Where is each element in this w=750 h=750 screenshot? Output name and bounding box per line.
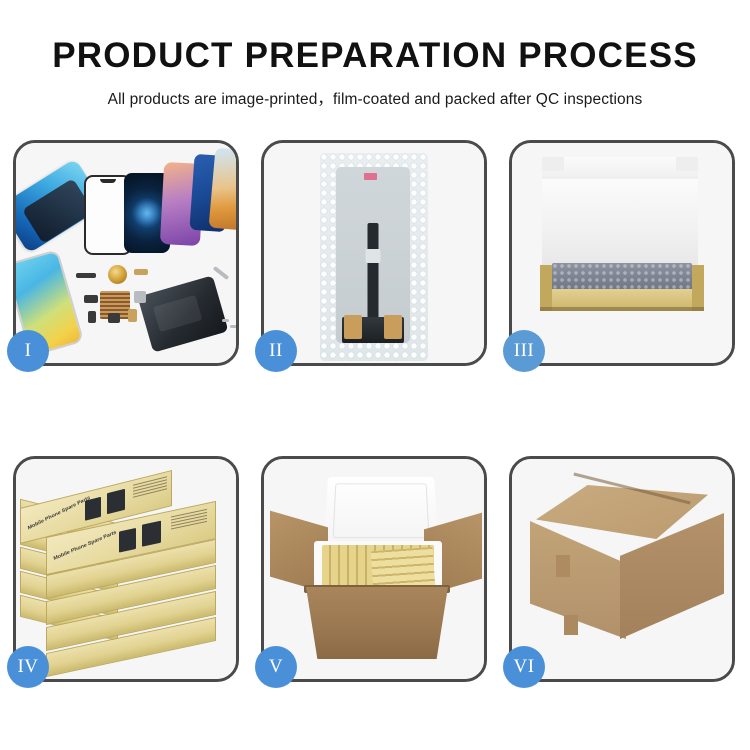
box-spec-lines-back bbox=[133, 476, 167, 499]
step-badge-6: VI bbox=[503, 646, 545, 688]
step-badge-5: V bbox=[255, 646, 297, 688]
box-spec-lines-front bbox=[171, 509, 207, 532]
lcd-connector-right bbox=[384, 315, 402, 339]
part-bracket bbox=[84, 295, 98, 303]
part-vibrator bbox=[108, 313, 120, 323]
part-screw-2 bbox=[230, 325, 236, 328]
carton-tape-mark-lower bbox=[564, 615, 578, 635]
box-artwork-3 bbox=[119, 528, 136, 553]
process-step-6[interactable]: VI bbox=[509, 456, 735, 682]
process-step-2[interactable]: II bbox=[261, 140, 487, 366]
bubble-wrap-bag bbox=[320, 153, 428, 361]
lcd-connector-left bbox=[344, 315, 362, 339]
sealed-carton-illustration bbox=[512, 459, 732, 679]
bubble-wrapped-screen-illustration bbox=[264, 143, 484, 363]
panel-4-image: Mobile Phone Spare Parts Mobile Phone Sp… bbox=[16, 459, 236, 679]
lid-notch-left bbox=[542, 157, 564, 171]
process-step-5[interactable]: V bbox=[261, 456, 487, 682]
header: PRODUCT PREPARATION PROCESS All products… bbox=[0, 0, 750, 109]
page-root: PRODUCT PREPARATION PROCESS All products… bbox=[0, 0, 750, 750]
phones-and-parts-illustration bbox=[16, 143, 236, 363]
step-badge-4: IV bbox=[7, 646, 49, 688]
part-button bbox=[88, 311, 96, 323]
page-title: PRODUCT PREPARATION PROCESS bbox=[0, 38, 750, 73]
carton-tape-mark-upper bbox=[556, 555, 570, 577]
white-lid-top-edge bbox=[542, 157, 698, 179]
panel-6-image bbox=[512, 459, 732, 679]
lid-notch-right bbox=[676, 157, 698, 171]
panel-5-image bbox=[264, 459, 484, 679]
panel-1-image bbox=[16, 143, 236, 363]
process-step-1[interactable]: I bbox=[13, 140, 239, 366]
box-artwork-2 bbox=[107, 489, 125, 514]
qc-sticker bbox=[364, 173, 377, 180]
page-subtitle: All products are image-printed，film-coat… bbox=[0, 87, 750, 109]
kraft-tray-left-side bbox=[540, 265, 552, 311]
lcd-flex-cable bbox=[368, 223, 379, 321]
step-badge-1: I bbox=[7, 330, 49, 372]
open-carton-illustration bbox=[264, 459, 484, 679]
kraft-tray-right-side bbox=[692, 265, 704, 311]
part-flex-cable bbox=[134, 269, 148, 275]
kraft-tray-bottom-shadow bbox=[540, 307, 704, 311]
open-kraft-box-illustration bbox=[512, 143, 732, 363]
box-stack-illustration: Mobile Phone Spare Parts Mobile Phone Sp… bbox=[16, 469, 236, 669]
part-connector bbox=[128, 309, 137, 322]
box-label-front: Mobile Phone Spare Parts bbox=[53, 530, 117, 562]
part-speaker bbox=[76, 273, 96, 278]
phone-chassis-part bbox=[138, 275, 229, 352]
step-badge-3: III bbox=[503, 330, 545, 372]
box-artwork-4 bbox=[142, 521, 161, 547]
box-label-back: Mobile Phone Spare Parts bbox=[27, 495, 91, 531]
grey-foam-padding bbox=[552, 263, 692, 291]
process-step-4[interactable]: Mobile Phone Spare Parts Mobile Phone Sp… bbox=[13, 456, 239, 682]
brown-carton-body bbox=[306, 587, 448, 659]
process-grid: I II bbox=[13, 140, 737, 682]
panel-2-image bbox=[264, 143, 484, 363]
lcd-screen bbox=[336, 167, 410, 343]
foam-box-lid bbox=[324, 477, 438, 546]
process-step-3[interactable]: III bbox=[509, 140, 735, 366]
part-screw-1 bbox=[222, 319, 229, 322]
carton-left-face bbox=[530, 521, 626, 639]
panel-3-image bbox=[512, 143, 732, 363]
part-tweezers bbox=[213, 266, 230, 280]
step-badge-2: II bbox=[255, 330, 297, 372]
part-camera-module bbox=[134, 291, 146, 303]
copper-coil-part bbox=[108, 265, 127, 284]
box-artwork-1 bbox=[85, 497, 101, 521]
